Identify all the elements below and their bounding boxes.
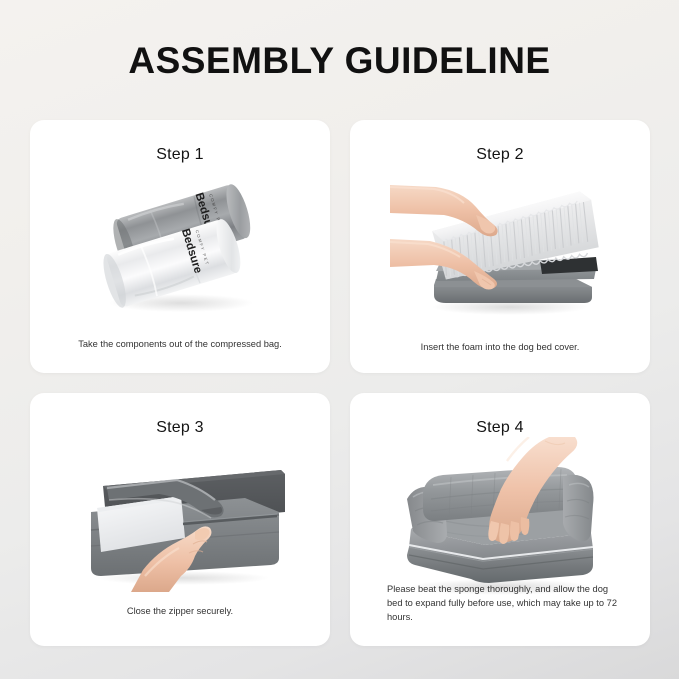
step-3-title: Step 3 xyxy=(30,419,330,437)
step-2-caption: Insert the foam into the dog bed cover. xyxy=(350,337,650,373)
step-card-3[interactable]: Step 3 xyxy=(30,393,330,646)
step-2-illustration xyxy=(350,172,650,322)
step-2-title: Step 2 xyxy=(350,146,650,164)
step-4-caption-text: Please beat the sponge thoroughly, and a… xyxy=(387,584,617,622)
insert-foam-icon xyxy=(390,175,610,320)
step-1-caption: Take the components out of the compresse… xyxy=(30,337,330,373)
step-4-title: Step 4 xyxy=(350,419,650,437)
step-4-illustration xyxy=(350,437,650,597)
step-2-caption-text: Insert the foam into the dog bed cover. xyxy=(350,340,650,354)
close-zipper-icon xyxy=(73,452,288,592)
step-4-caption: Please beat the sponge thoroughly, and a… xyxy=(350,582,650,646)
step-card-1[interactable]: Step 1 xyxy=(30,120,330,373)
steps-grid: Step 1 xyxy=(30,120,650,660)
finished-dog-bed-icon xyxy=(385,437,615,597)
step-3-illustration xyxy=(30,447,330,597)
assembly-guideline-page: ASSEMBLY GUIDELINE Step 1 xyxy=(0,0,679,679)
step-3-caption-text: Close the zipper securely. xyxy=(30,604,330,618)
step-1-title: Step 1 xyxy=(30,146,330,164)
step-card-2[interactable]: Step 2 xyxy=(350,120,650,373)
step-card-4[interactable]: Step 4 xyxy=(350,393,650,646)
step-3-caption: Close the zipper securely. xyxy=(30,610,330,646)
step-1-caption-text: Take the components out of the compresse… xyxy=(30,337,330,351)
compressed-rolls-icon: Bedsure COMFY PET Bedsure COMFY PET xyxy=(85,177,275,317)
step-1-illustration: Bedsure COMFY PET Bedsure COMFY PET xyxy=(30,172,330,322)
page-title: ASSEMBLY GUIDELINE xyxy=(0,40,679,82)
